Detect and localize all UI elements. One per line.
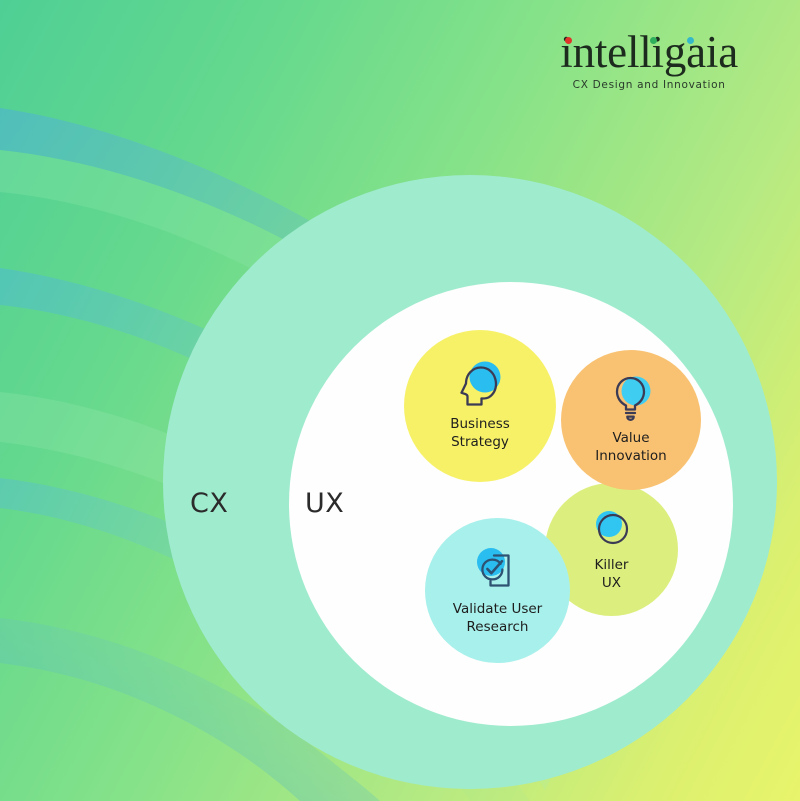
bubble-validate-user-research[interactable]: Validate User Research <box>425 518 570 663</box>
head-profile-icon <box>452 360 508 410</box>
bubble-value-innovation-label: Value Innovation <box>595 430 666 466</box>
bubble-business-strategy[interactable]: Business Strategy <box>404 330 556 482</box>
brand-wordmark-text: intelligaia <box>560 27 738 77</box>
lightbulb-icon <box>605 374 657 424</box>
brand-logo: intelligaia CX Design and Innovation <box>560 30 738 91</box>
bubble-validate-user-research-label: Validate User Research <box>453 601 542 637</box>
bubble-killer-ux-label: Killer UX <box>595 557 629 593</box>
cx-label: CX <box>190 488 228 519</box>
overlapping-circles-icon <box>588 507 636 553</box>
document-check-icon <box>470 545 526 595</box>
ux-label: UX <box>305 488 344 519</box>
infographic-canvas: intelligaia CX Design and Innovation CX … <box>0 0 800 801</box>
brand-wordmark: intelligaia <box>560 30 738 76</box>
brand-tagline: CX Design and Innovation <box>560 79 738 91</box>
bubble-business-strategy-label: Business Strategy <box>450 416 510 452</box>
bubble-value-innovation[interactable]: Value Innovation <box>561 350 701 490</box>
